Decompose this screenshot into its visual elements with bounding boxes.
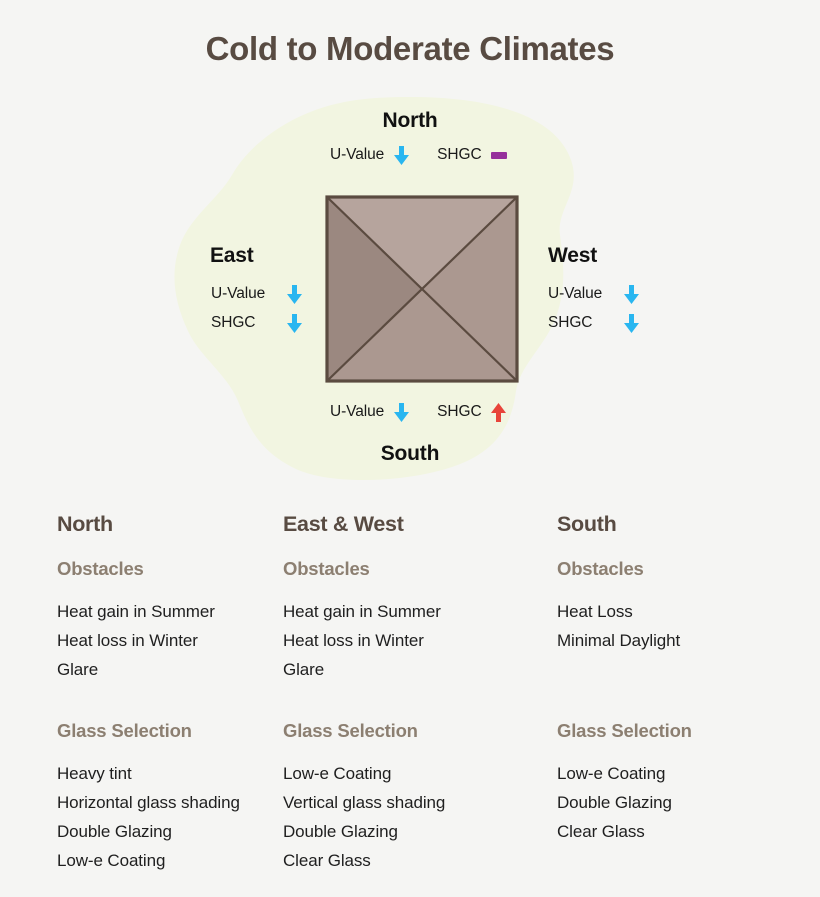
metrics-west: U-Value SHGC bbox=[548, 284, 639, 333]
metric-label: U-Value bbox=[330, 403, 384, 421]
orientation-diagram: North U-Value SHGC East U-Value SHGC bbox=[0, 95, 820, 495]
column-title: North bbox=[57, 512, 261, 537]
metric-north-u-value: U-Value bbox=[330, 145, 409, 165]
compass-label-south: South bbox=[0, 442, 820, 466]
building-roof-plan bbox=[325, 195, 519, 383]
list-item: Double Glazing bbox=[283, 817, 531, 846]
list-item: Vertical glass shading bbox=[283, 788, 531, 817]
column-south: South Obstacles Heat Loss Minimal Daylig… bbox=[543, 512, 820, 875]
metric-label: SHGC bbox=[437, 403, 481, 421]
list-item: Minimal Daylight bbox=[557, 626, 808, 655]
metric-label: SHGC bbox=[548, 314, 614, 332]
column-title: East & West bbox=[283, 512, 531, 537]
list-item: Heat loss in Winter bbox=[283, 626, 531, 655]
column-east-west: East & West Obstacles Heat gain in Summe… bbox=[273, 512, 543, 875]
list-item: Horizontal glass shading bbox=[57, 788, 261, 817]
metric-west-shgc: SHGC bbox=[548, 313, 639, 333]
metric-label: U-Value bbox=[211, 285, 277, 303]
list-item: Clear Glass bbox=[557, 817, 808, 846]
dash-neutral-icon bbox=[491, 145, 507, 165]
obstacles-heading: Obstacles bbox=[57, 558, 261, 580]
compass-label-east: East bbox=[210, 244, 254, 268]
recommendations-columns: North Obstacles Heat gain in Summer Heat… bbox=[0, 512, 820, 875]
list-item: Heat Loss bbox=[557, 597, 808, 626]
glass-selection-list: Low-e Coating Vertical glass shading Dou… bbox=[283, 759, 531, 875]
list-item: Low-e Coating bbox=[57, 846, 261, 875]
metric-label: U-Value bbox=[330, 146, 384, 164]
glass-selection-list: Low-e Coating Double Glazing Clear Glass bbox=[557, 759, 808, 846]
obstacles-list: Heat gain in Summer Heat loss in Winter … bbox=[283, 597, 531, 684]
list-item: Heat gain in Summer bbox=[57, 597, 261, 626]
arrow-down-icon bbox=[623, 284, 639, 304]
list-item: Heat loss in Winter bbox=[57, 626, 261, 655]
obstacles-heading: Obstacles bbox=[557, 558, 808, 580]
obstacles-heading: Obstacles bbox=[283, 558, 531, 580]
list-item: Double Glazing bbox=[57, 817, 261, 846]
metrics-south: U-Value SHGC bbox=[330, 402, 507, 422]
list-item: Low-e Coating bbox=[557, 759, 808, 788]
arrow-down-icon bbox=[393, 145, 409, 165]
page-title: Cold to Moderate Climates bbox=[0, 30, 820, 68]
metric-north-shgc: SHGC bbox=[437, 145, 506, 165]
metric-label: SHGC bbox=[437, 146, 481, 164]
compass-label-north: North bbox=[0, 109, 820, 133]
metric-label: SHGC bbox=[211, 314, 277, 332]
glass-selection-heading: Glass Selection bbox=[283, 720, 531, 742]
arrow-up-icon bbox=[491, 402, 507, 422]
metric-west-u-value: U-Value bbox=[548, 284, 639, 304]
glass-selection-heading: Glass Selection bbox=[57, 720, 261, 742]
list-item: Glare bbox=[57, 655, 261, 684]
metrics-east: U-Value SHGC bbox=[211, 284, 302, 333]
list-item: Low-e Coating bbox=[283, 759, 531, 788]
arrow-down-icon bbox=[393, 402, 409, 422]
list-item: Double Glazing bbox=[557, 788, 808, 817]
compass-label-west: West bbox=[548, 244, 597, 268]
list-item: Glare bbox=[283, 655, 531, 684]
column-north: North Obstacles Heat gain in Summer Heat… bbox=[0, 512, 273, 875]
metrics-north: U-Value SHGC bbox=[330, 145, 507, 165]
glass-selection-heading: Glass Selection bbox=[557, 720, 808, 742]
list-item: Clear Glass bbox=[283, 846, 531, 875]
metric-south-shgc: SHGC bbox=[437, 402, 506, 422]
arrow-down-icon bbox=[623, 313, 639, 333]
metric-east-u-value: U-Value bbox=[211, 284, 302, 304]
metric-label: U-Value bbox=[548, 285, 614, 303]
list-item: Heat gain in Summer bbox=[283, 597, 531, 626]
obstacles-list: Heat Loss Minimal Daylight bbox=[557, 597, 808, 684]
metric-east-shgc: SHGC bbox=[211, 313, 302, 333]
column-title: South bbox=[557, 512, 808, 537]
metric-south-u-value: U-Value bbox=[330, 402, 409, 422]
arrow-down-icon bbox=[286, 313, 302, 333]
list-item: Heavy tint bbox=[57, 759, 261, 788]
glass-selection-list: Heavy tint Horizontal glass shading Doub… bbox=[57, 759, 261, 875]
arrow-down-icon bbox=[286, 284, 302, 304]
obstacles-list: Heat gain in Summer Heat loss in Winter … bbox=[57, 597, 261, 684]
